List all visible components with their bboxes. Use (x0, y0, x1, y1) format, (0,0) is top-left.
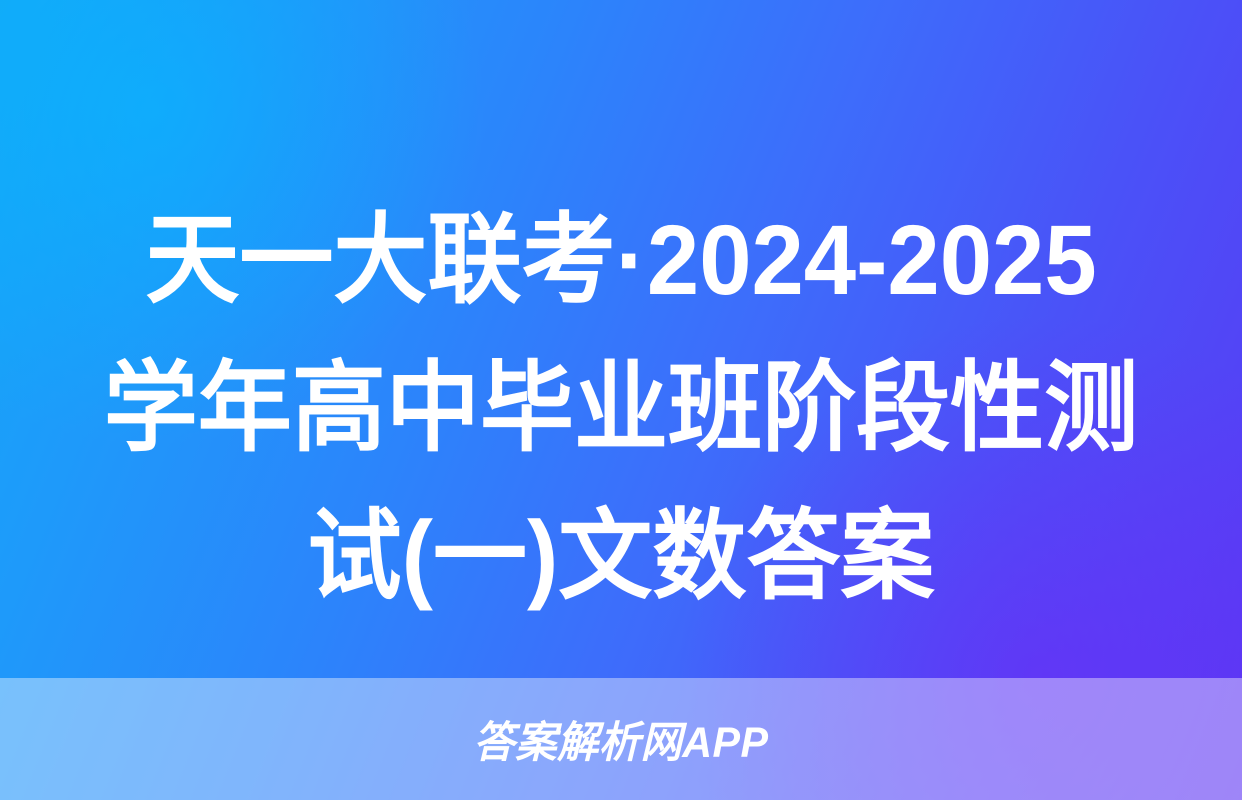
app-watermark: 答案解析网APP (25, 678, 1217, 800)
title-line-1: 天一大联考·2024-2025 (31, 186, 1211, 334)
poster-canvas: 天一大联考·2024-2025 学年高中毕业班阶段性测 试(一)文数答案 答案解… (0, 0, 1242, 800)
title-line-2: 学年高中毕业班阶段性测 (31, 334, 1211, 482)
footer-band: 答案解析网APP (0, 678, 1242, 800)
title-line-3: 试(一)文数答案 (31, 482, 1211, 630)
poster-title: 天一大联考·2024-2025 学年高中毕业班阶段性测 试(一)文数答案 (0, 186, 1242, 630)
